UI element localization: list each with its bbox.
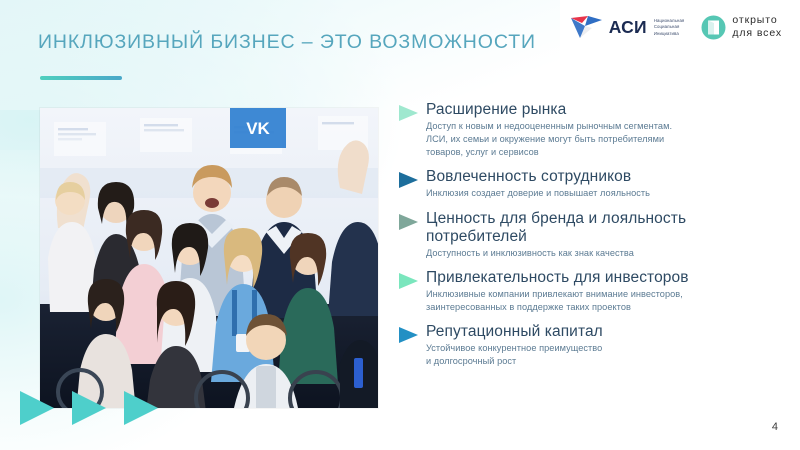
benefit-title: Вовлеченность сотрудников: [426, 168, 790, 186]
arrow-right-icon: [398, 213, 420, 231]
benefit-description: Доступность и инклюзивность как знак кач…: [426, 247, 790, 260]
open-door-icon: [701, 15, 726, 40]
title-underline-rule: [40, 76, 122, 80]
triangle-icon-2: [66, 386, 110, 430]
benefit-item-brand-value: Ценность для бренда и лояльность потреби…: [398, 210, 790, 260]
benefit-description: Устойчивое конкурентное преимущество и д…: [426, 342, 790, 368]
asi-wordmark: АСИ: [609, 19, 647, 37]
otkrito-line-2: для всех: [732, 27, 782, 39]
logo-group: АСИ Национальная Социальная Инициатива о…: [570, 14, 782, 41]
benefit-description: Инклюзивные компании привлекают внимание…: [426, 288, 790, 314]
otkrito-dlya-vsekh-logo: открыто для всех: [701, 14, 782, 41]
benefit-title: Привлекательность для инвесторов: [426, 269, 790, 287]
svg-text:VK: VK: [246, 119, 270, 138]
asi-logo: АСИ Национальная Социальная Инициатива: [570, 14, 685, 40]
asi-arrow-icon: [570, 14, 604, 40]
benefits-list: Расширение рынка Доступ к новым и недооц…: [398, 101, 790, 368]
slide: ИНКЛЮЗИВНЫЙ БИЗНЕС – ЭТО ВОЗМОЖНОСТИ АСИ…: [0, 0, 800, 450]
asi-subtitle: Национальная Социальная Инициатива: [652, 18, 685, 37]
benefit-item-employee-engagement: Вовлеченность сотрудников Инклюзия созда…: [398, 168, 790, 200]
benefit-item-market-expansion: Расширение рынка Доступ к новым и недооц…: [398, 101, 790, 159]
arrow-right-icon: [398, 171, 420, 189]
decorative-triangles: [14, 386, 162, 430]
otkrito-line-1: открыто: [732, 14, 777, 26]
benefit-item-investor-appeal: Привлекательность для инвесторов Инклюзи…: [398, 269, 790, 314]
benefit-title: Ценность для бренда и лояльность потреби…: [426, 210, 790, 246]
benefit-item-reputation-capital: Репутационный капитал Устойчивое конкуре…: [398, 323, 790, 368]
arrow-right-icon: [398, 326, 420, 344]
benefit-description: Доступ к новым и недооцененным рыночным …: [426, 120, 790, 159]
arrow-right-icon: [398, 104, 420, 122]
otkrito-wordmark: открыто для всех: [732, 14, 782, 41]
triangle-icon-3: [118, 386, 162, 430]
page-number: 4: [772, 421, 778, 433]
group-photo: VK: [40, 108, 378, 408]
triangle-icon-1: [14, 386, 58, 430]
background-corner-gradient: [0, 0, 560, 110]
benefit-title: Репутационный капитал: [426, 323, 790, 341]
page-title: ИНКЛЮЗИВНЫЙ БИЗНЕС – ЭТО ВОЗМОЖНОСТИ: [38, 31, 536, 54]
arrow-right-icon: [398, 272, 420, 290]
benefit-title: Расширение рынка: [426, 101, 790, 119]
benefit-description: Инклюзия создает доверие и повышает лоял…: [426, 187, 790, 200]
